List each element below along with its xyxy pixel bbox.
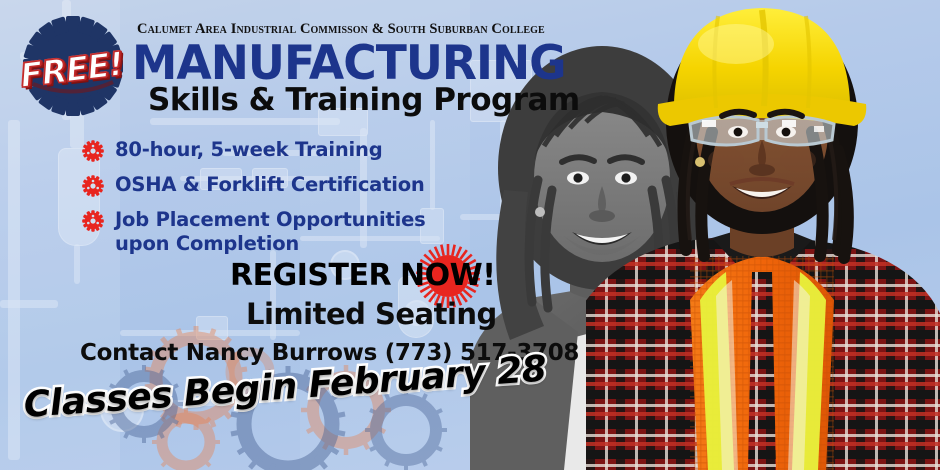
feature-list: 80-hour, 5-week Training xyxy=(82,138,426,256)
page-subtitle: Skills & Training Program xyxy=(148,82,580,118)
gear-bullet-icon xyxy=(82,140,104,162)
now-label: NOW! xyxy=(400,258,495,293)
cta-register-row: REGISTER xyxy=(230,258,495,293)
avatar-right-person-hardhat xyxy=(586,0,940,470)
list-item-multiline: Job Placement Opportunities upon Complet… xyxy=(115,208,426,256)
list-item-label: 80-hour, 5-week Training xyxy=(115,138,382,162)
promo-banner: FREE! Calumet Area Industrial Commisson … xyxy=(0,0,940,470)
list-item: 80-hour, 5-week Training xyxy=(82,138,426,162)
list-item-label: OSHA & Forklift Certification xyxy=(115,173,425,197)
limited-seating-label: Limited Seating xyxy=(246,297,497,331)
register-label: REGISTER xyxy=(230,258,391,293)
free-badge: FREE! xyxy=(14,14,132,118)
list-item-label: Job Placement Opportunities xyxy=(115,208,426,232)
list-item: Job Placement Opportunities upon Complet… xyxy=(82,208,426,256)
list-item-label-cont: upon Completion xyxy=(115,232,426,256)
gear-bullet-icon xyxy=(82,175,104,197)
list-item: OSHA & Forklift Certification xyxy=(82,173,426,197)
gear-bullet-icon xyxy=(82,210,104,232)
now-wrap: NOW! xyxy=(400,258,495,293)
